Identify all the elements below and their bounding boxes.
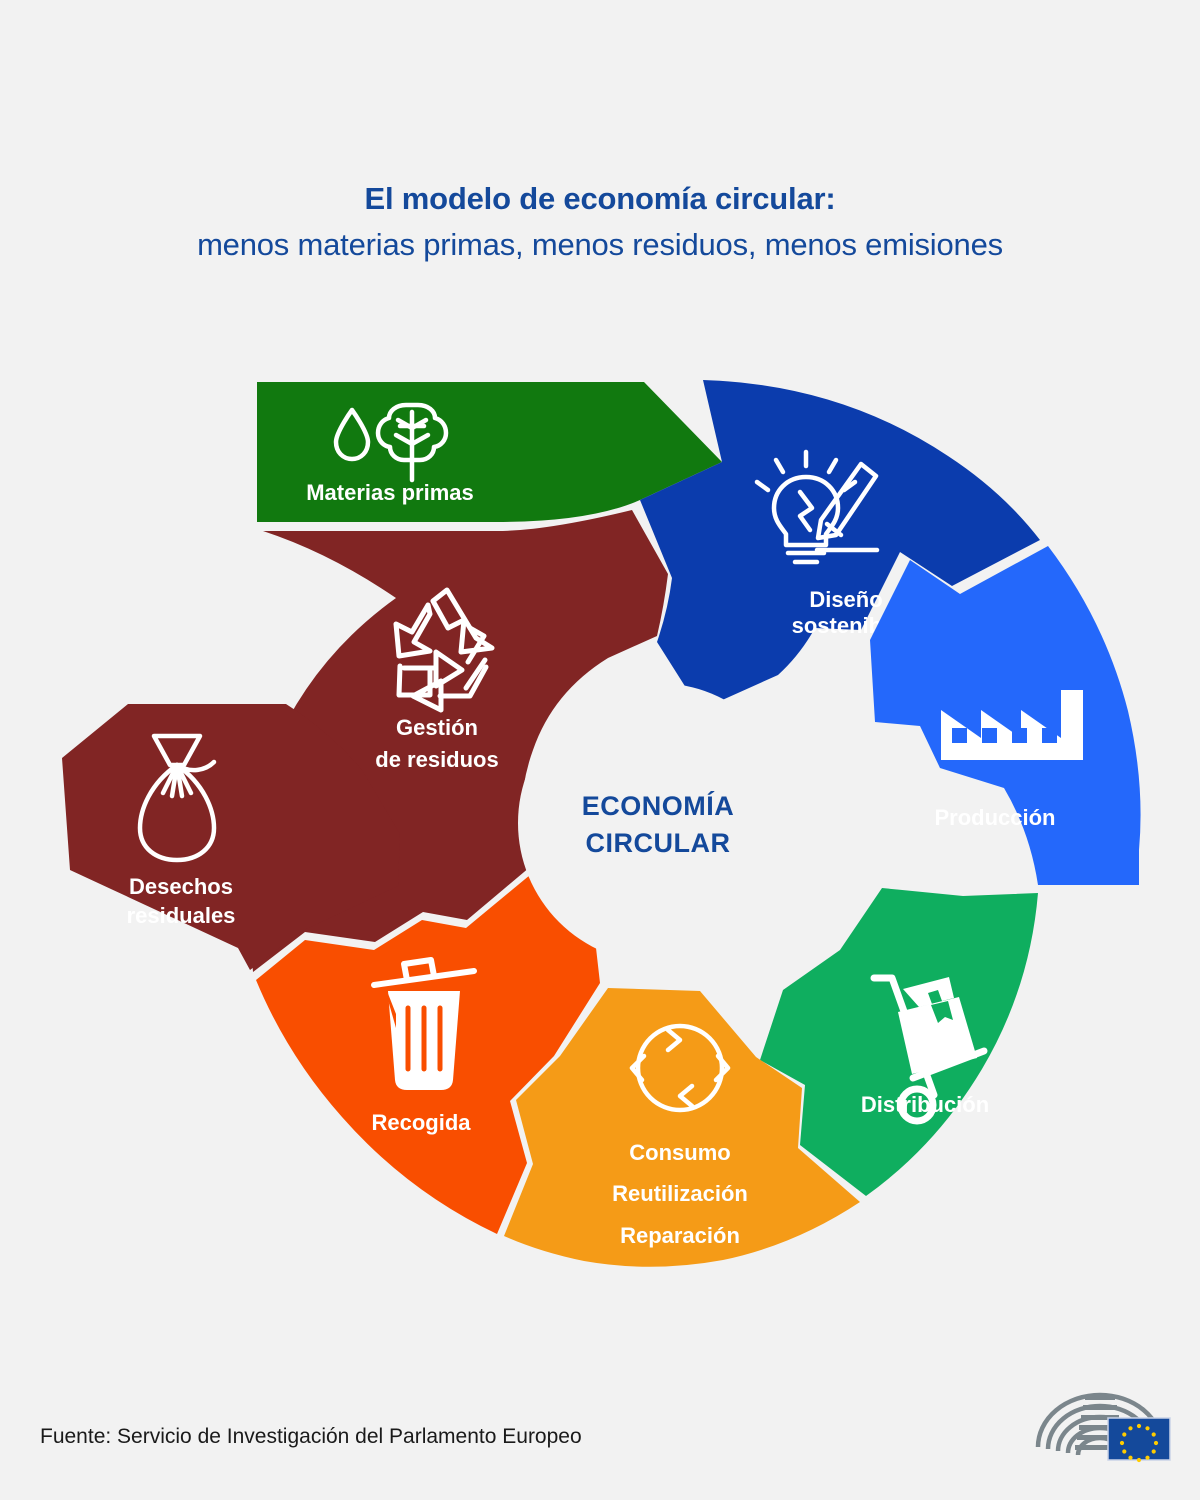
center-hub-circle	[518, 683, 798, 963]
segment-materias-primas-label: Materias primas	[306, 480, 474, 505]
segment-diseno-sostenible-label-1: Diseño	[809, 587, 882, 612]
center-hub: ECONOMÍA CIRCULAR	[518, 683, 798, 963]
segment-distribucion-shape	[760, 888, 1038, 1196]
european-parliament-logo	[1020, 1375, 1180, 1480]
segment-distribucion-label: Distribución	[861, 1092, 989, 1117]
segment-produccion-shape	[870, 546, 1141, 885]
title-line-1: El modelo de economía circular:	[0, 180, 1200, 219]
center-label-line-2: CIRCULAR	[586, 828, 731, 858]
segment-desechos-residuales-label-1: Desechos	[129, 874, 233, 899]
segment-produccion[interactable]: Producción	[870, 546, 1141, 885]
segment-consumo-label-2: Reutilización	[612, 1181, 748, 1206]
source-caption: Fuente: Servicio de Investigación del Pa…	[40, 1425, 582, 1449]
segment-desechos-residuales-label-2: residuales	[127, 903, 236, 928]
segment-recogida-label: Recogida	[371, 1110, 471, 1135]
center-label-line-1: ECONOMÍA	[582, 790, 735, 821]
segment-consumo-label-3: Reparación	[620, 1223, 740, 1248]
segment-gestion-de-residuos-label-1: Gestión	[396, 715, 478, 740]
circular-economy-diagram: Materias primas Diseño sostenible	[0, 340, 1200, 1330]
segment-distribucion[interactable]: Distribución	[760, 888, 1038, 1196]
page-title: El modelo de economía circular: menos ma…	[0, 180, 1200, 265]
title-line-2: menos materias primas, menos residuos, m…	[0, 225, 1200, 265]
segment-gestion-de-residuos-label-2: de residuos	[375, 747, 498, 772]
segment-produccion-label: Producción	[934, 805, 1055, 830]
segment-consumo-label-1: Consumo	[629, 1140, 730, 1165]
